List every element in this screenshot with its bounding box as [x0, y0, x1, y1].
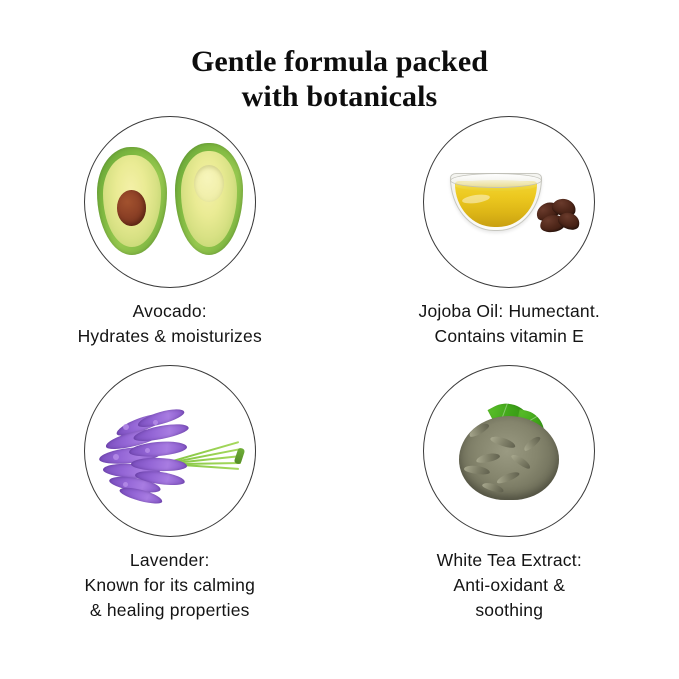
- avocado-caption-line-1: Avocado:: [78, 299, 262, 324]
- lavender-bud: [153, 420, 158, 425]
- lavender-caption-line-2: Known for its calming: [84, 573, 255, 598]
- lavender-bunch: [93, 408, 249, 504]
- glass-bowl-rim: [450, 173, 542, 188]
- jojoba-oil-caption: Jojoba Oil: Humectant. Contains vitamin …: [419, 299, 600, 349]
- avocado-caption: Avocado: Hydrates & moisturizes: [78, 299, 262, 349]
- ingredient-card-jojoba-oil: Jojoba Oil: Humectant. Contains vitamin …: [340, 116, 679, 349]
- avocado-pit: [117, 190, 146, 226]
- avocado-image-circle: [84, 116, 256, 288]
- jojoba-caption-line-2: Contains vitamin E: [419, 324, 600, 349]
- lavender-bud: [113, 454, 119, 460]
- jojoba-oil-bowl-icon: [424, 117, 594, 287]
- white-tea-caption-line-2: Anti-oxidant &: [437, 573, 582, 598]
- ingredient-card-white-tea-extract: White Tea Extract: Anti-oxidant & soothi…: [340, 365, 679, 623]
- white-tea-caption: White Tea Extract: Anti-oxidant & soothi…: [437, 548, 582, 623]
- white-tea-caption-line-3: soothing: [437, 598, 582, 623]
- lavender-caption-line-3: & healing properties: [84, 598, 255, 623]
- lavender-caption: Lavender: Known for its calming & healin…: [84, 548, 255, 623]
- ingredient-row-2: Lavender: Known for its calming & healin…: [0, 365, 679, 623]
- ingredient-card-lavender: Lavender: Known for its calming & healin…: [0, 365, 340, 623]
- avocado-caption-line-2: Hydrates & moisturizes: [78, 324, 262, 349]
- page-title-line-1: Gentle formula packed: [0, 44, 679, 79]
- avocado-halves-icon: [85, 117, 255, 287]
- page-title-line-2: with botanicals: [0, 79, 679, 114]
- lavender-bunch-icon: [85, 366, 255, 536]
- white-tea-image-circle: [423, 365, 595, 537]
- lavender-bud: [123, 424, 129, 430]
- jojoba-oil-image-circle: [423, 116, 595, 288]
- ingredient-row-1: Avocado: Hydrates & moisturizes: [0, 116, 679, 349]
- ingredient-grid: Avocado: Hydrates & moisturizes: [0, 116, 679, 623]
- avocado-half-hollow: [175, 143, 243, 255]
- lavender-bud: [123, 482, 128, 487]
- oil-bowl: [450, 173, 542, 231]
- lavender-bud: [145, 448, 150, 453]
- jojoba-caption-line-1: Jojoba Oil: Humectant.: [419, 299, 600, 324]
- white-tea-leaves-icon: [424, 366, 594, 536]
- lavender-caption-line-1: Lavender:: [84, 548, 255, 573]
- ingredient-infographic: Gentle formula packed with botanicals: [0, 0, 679, 679]
- lavender-image-circle: [84, 365, 256, 537]
- page-title: Gentle formula packed with botanicals: [0, 44, 679, 114]
- ingredient-card-avocado: Avocado: Hydrates & moisturizes: [0, 116, 340, 349]
- avocado-pit-hollow: [194, 165, 224, 202]
- white-tea-caption-line-1: White Tea Extract:: [437, 548, 582, 573]
- avocado-half-with-pit: [97, 147, 167, 255]
